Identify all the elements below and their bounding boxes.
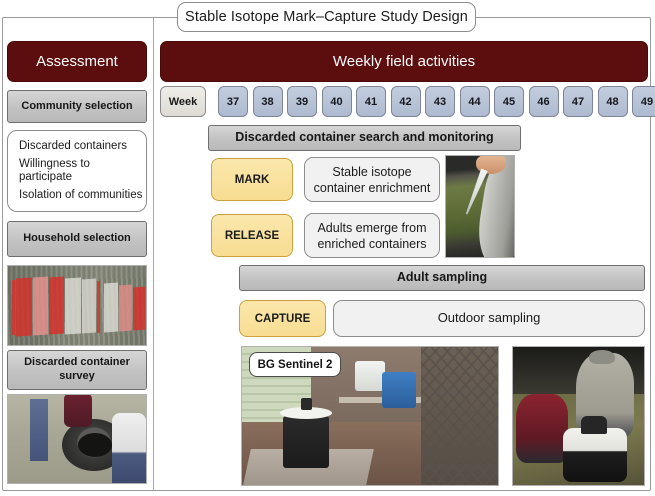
weekly-field-activities-header: Weekly field activities (160, 41, 648, 82)
researchers-servicing-trap-photo (512, 346, 645, 486)
week-row-label: Week (160, 86, 206, 117)
week-chip-41[interactable]: 41 (356, 86, 386, 117)
capture-action-box: CAPTURE (239, 300, 326, 337)
column-divider (153, 18, 154, 490)
week-chip-44[interactable]: 44 (460, 86, 490, 117)
mark-description-box: Stable isotope container enrichment (304, 157, 440, 202)
pipette-in-tire-photo (445, 155, 515, 258)
week-chip-46[interactable]: 46 (529, 86, 559, 117)
week-chip-40[interactable]: 40 (322, 86, 352, 117)
discarded-container-search-bar: Discarded container search and monitorin… (208, 125, 521, 151)
release-description-box: Adults emerge from enriched containers (304, 213, 440, 258)
discarded-container-survey-bar: Discarded container survey (7, 350, 147, 390)
week-chip-row: 37 38 39 40 41 42 43 44 45 46 47 48 49 (218, 86, 655, 117)
criteria-item-willingness: Willingness to participate (19, 158, 146, 183)
household-selection-bar: Household selection (7, 221, 147, 257)
aerial-neighborhood-photo (7, 265, 147, 346)
week-chip-45[interactable]: 45 (494, 86, 524, 117)
criteria-item-discarded-containers: Discarded containers (19, 140, 146, 153)
week-chip-49[interactable]: 49 (632, 86, 655, 117)
bg-sentinel-caption: BG Sentinel 2 (249, 352, 341, 377)
assessment-header: Assessment (7, 41, 147, 82)
tire-survey-photo (7, 394, 147, 484)
community-criteria-box: Discarded containers Willingness to part… (7, 130, 147, 212)
week-chip-38[interactable]: 38 (253, 86, 283, 117)
study-design-figure: Stable Isotope Mark–Capture Study Design… (0, 0, 655, 496)
figure-title: Stable Isotope Mark–Capture Study Design (177, 2, 476, 32)
week-chip-43[interactable]: 43 (425, 86, 455, 117)
community-selection-bar: Community selection (7, 90, 147, 123)
criteria-item-isolation: Isolation of communities (19, 189, 146, 202)
capture-description-box: Outdoor sampling (333, 300, 645, 337)
adult-sampling-bar: Adult sampling (239, 265, 645, 291)
week-chip-37[interactable]: 37 (218, 86, 248, 117)
week-chip-47[interactable]: 47 (563, 86, 593, 117)
week-chip-42[interactable]: 42 (391, 86, 421, 117)
week-chip-39[interactable]: 39 (287, 86, 317, 117)
week-chip-48[interactable]: 48 (598, 86, 628, 117)
mark-action-box: MARK (211, 158, 293, 201)
release-action-box: RELEASE (211, 214, 293, 257)
